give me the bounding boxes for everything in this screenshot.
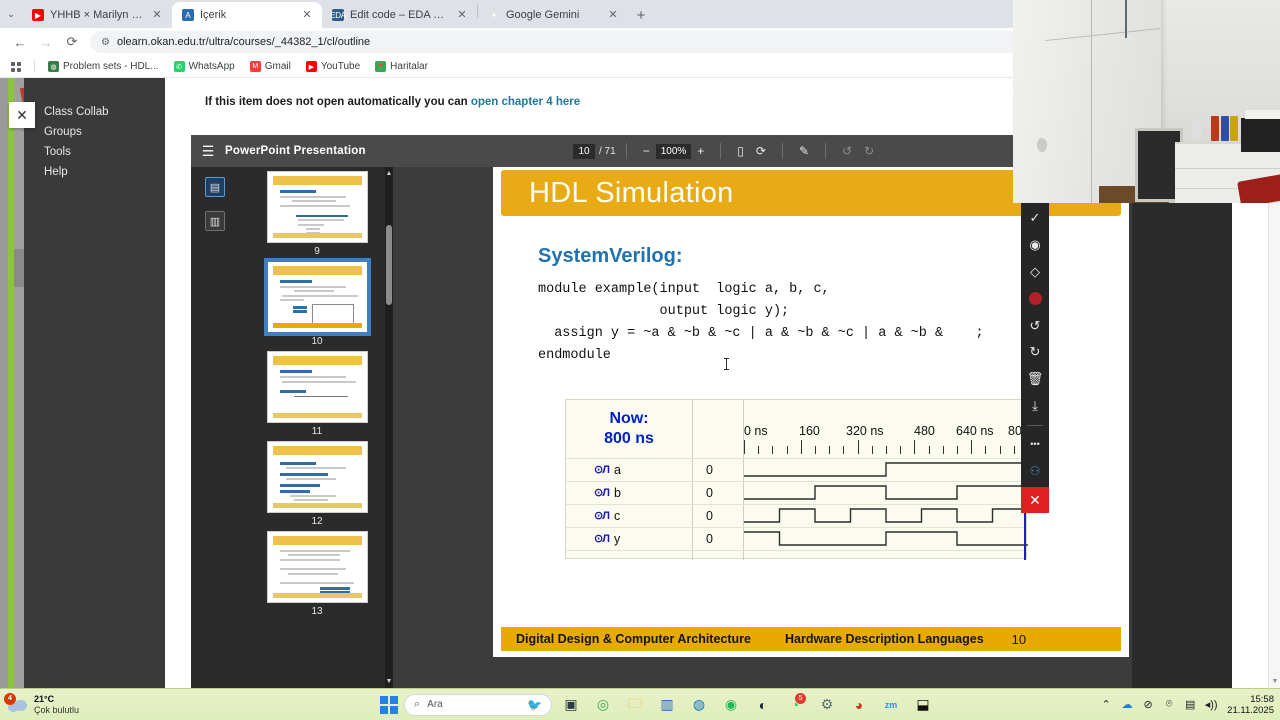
signal-name: a [614, 463, 621, 477]
axis-tick-minor [929, 446, 930, 454]
spotify-icon[interactable]: ◉ [718, 692, 744, 718]
monitor [1241, 118, 1280, 152]
network-icon[interactable]: ▤ [1181, 695, 1199, 715]
flyout-item-eposta[interactable]: E-Posta [24, 82, 165, 102]
close-icon[interactable]: ✕ [300, 10, 314, 21]
slide-thumbnail[interactable] [267, 171, 368, 243]
windows-taskbar: 4 21°C Çok bulutlu ⌕ Ara 🐦 ▣ ◎ 🗀 ▥ ◍ ◉ ◐… [0, 688, 1280, 720]
axis-tick-minor [886, 446, 887, 454]
weather-text: 21°C Çok bulutlu [34, 694, 79, 716]
thumbnail-item[interactable]: 11 [249, 351, 385, 437]
condition: Çok bulutlu [34, 705, 79, 716]
thumb-heading [280, 490, 310, 493]
chrome-icon[interactable]: ◎ [590, 692, 616, 718]
notification-badge: 4 [4, 693, 16, 705]
gemini-icon: ✦ [488, 9, 500, 21]
flyout-item-tools[interactable]: Tools [24, 142, 165, 162]
thumb-footer-bar [273, 503, 362, 508]
tab-search-chevron-icon[interactable]: ⌄ [0, 0, 22, 28]
tab-label: YHHB × Marilyn Manson (remi [50, 9, 144, 21]
signal-icon: ⊙Л [594, 509, 609, 522]
axis-tick-minor [787, 446, 788, 454]
wardrobe-seam [1091, 0, 1092, 203]
spray-can [1221, 116, 1229, 141]
bookmark-label: Gmail [265, 61, 291, 72]
toolbar-divider [720, 143, 721, 159]
show-hidden-icon[interactable]: ⌃ [1097, 695, 1115, 715]
axis-tick-minor [943, 446, 944, 454]
bookmark-label: Problem sets - HDL... [63, 61, 159, 72]
axis-tick-minor [985, 446, 986, 454]
thumbnail-number: 10 [249, 336, 385, 347]
thumb-line [290, 495, 336, 497]
thumb-line [296, 215, 348, 217]
waveform-signal-c [744, 509, 1028, 522]
axis-tick-minor [843, 446, 844, 454]
thumbnail-scrollbar-thumb[interactable] [386, 225, 392, 305]
thumb-line [320, 587, 350, 590]
thumb-line [282, 295, 358, 297]
axis-tick-minor [1014, 446, 1015, 454]
waveform-signal-y [744, 532, 1028, 545]
tab-label: Edit code – EDA Playground [350, 9, 449, 21]
thumbnail-panel: ▤ ▥ [191, 167, 393, 688]
toolbar-divider [626, 143, 627, 159]
bookmark-label: Haritalar [390, 61, 428, 72]
thumb-heading [280, 473, 328, 476]
thumbnail-list: 9 [249, 171, 385, 621]
thumbnail-number: 12 [249, 516, 385, 527]
thumbnail-number: 13 [249, 606, 385, 617]
steam-icon[interactable]: ◐ [750, 692, 776, 718]
wardrobe-knob [1037, 138, 1047, 152]
axis-tick-minor [872, 446, 873, 454]
thumb-title-bar [273, 446, 362, 455]
search-placeholder: Ara [427, 699, 443, 710]
clock[interactable]: 15:58 21.11.2025 [1227, 694, 1274, 716]
whatsapp-icon[interactable]: ◔5 [782, 692, 808, 718]
zoom-level-label[interactable]: 100% [656, 144, 692, 159]
weather-widget[interactable]: 4 21°C Çok bulutlu [6, 694, 79, 716]
annotation-toolbar: ✓ ◉ ◇ ↺ ↻ 🗑 ⤓ ••• ⚇ ✕ [1021, 200, 1049, 513]
mic-icon[interactable]: ⌾ [1160, 695, 1178, 715]
undo-icon[interactable]: ↺ [836, 140, 858, 162]
office-icon[interactable]: ◕ [846, 692, 872, 718]
signal-icon: ⊙Л [594, 532, 609, 545]
lms-flyout-menu: E-Posta Class Collab Groups Tools Help [24, 78, 165, 688]
bottle [1192, 122, 1201, 140]
thumbnail-item[interactable]: 9 [249, 171, 385, 257]
slide-footer-center: Hardware Description Languages [785, 632, 984, 646]
back-icon[interactable]: ← [8, 30, 32, 54]
thumb-heading [280, 462, 316, 465]
browser-tab-icerik[interactable]: A İçerik ✕ [172, 2, 322, 28]
taskview-icon[interactable]: ▣ [558, 692, 584, 718]
axis-tick-minor [829, 446, 830, 454]
slide-thumbnail[interactable] [267, 531, 368, 603]
browser-tab-google-gemini[interactable]: ✦ Google Gemini ✕ [478, 2, 628, 28]
thumb-heading [280, 190, 316, 193]
outlook-icon[interactable]: ◍ [686, 692, 712, 718]
bookmark-label: WhatsApp [189, 61, 235, 72]
bookmark-gmail[interactable]: M Gmail [244, 59, 297, 74]
thumb-heading [280, 390, 306, 393]
maps-icon: 📍 [375, 61, 386, 72]
slide-thumbnail[interactable] [267, 441, 368, 513]
bookmark-youtube[interactable]: ▶ YouTube [300, 59, 366, 74]
whatsapp-icon: ✆ [174, 61, 185, 72]
signal-value: 0 [706, 486, 713, 500]
thumb-line [280, 205, 350, 207]
thumb-footer-bar [273, 593, 362, 598]
now-label: Now: [609, 409, 648, 429]
signal-icon: ⊙Л [594, 463, 609, 476]
thumb-line [280, 550, 350, 552]
axis-tick-minor [815, 446, 816, 454]
thumb-line [280, 196, 346, 198]
axis-tick-minor [957, 446, 958, 454]
close-panel-button[interactable]: ✕ [9, 102, 35, 128]
taskbar-center: ⌕ Ara 🐦 ▣ ◎ 🗀 ▥ ◍ ◉ ◐ ◔5 ⚙ ◕ zm ⬓ [380, 692, 936, 718]
forward-icon[interactable]: → [34, 30, 58, 54]
thumb-heading [280, 484, 320, 487]
mute-icon[interactable]: ⊘ [1139, 695, 1157, 715]
signal-value: 0 [706, 509, 713, 523]
column-divider [692, 400, 693, 560]
temperature: 21°C [34, 694, 79, 705]
clock-time: 15:58 [1227, 694, 1274, 705]
panel-mode-buttons: ▤ ▥ [205, 177, 227, 245]
eraser-icon[interactable]: ◇ [1021, 259, 1049, 286]
annotate-icon[interactable]: ✎ [793, 140, 815, 162]
apps-grid-icon[interactable] [11, 62, 21, 72]
spray-can [1211, 116, 1219, 141]
thumb-line [286, 467, 346, 469]
dresser-drawer-line [1175, 168, 1280, 169]
slide-footer-page: 10 [1012, 632, 1026, 647]
check-icon[interactable]: ✓ [1021, 205, 1049, 232]
page-number-input[interactable]: 10 [573, 144, 595, 159]
hamburger-icon[interactable]: ☰ [191, 143, 225, 160]
flyout-item-groups[interactable]: Groups [24, 122, 165, 142]
thumb-title-bar [273, 176, 362, 185]
slide-footer-left: Digital Design & Computer Architecture [516, 632, 751, 646]
thumb-line [294, 499, 328, 501]
axis-tick-major [971, 440, 972, 454]
notice-text: If this item does not open automatically… [205, 96, 471, 108]
flyout-item-class-collab[interactable]: Class Collab [24, 102, 165, 122]
signal-value: 0 [706, 463, 713, 477]
eda-icon: EDA [332, 9, 344, 21]
wardrobe-handle [1125, 0, 1127, 38]
axis-tick-minor [900, 446, 901, 454]
signal-value: 0 [706, 532, 713, 546]
scroll-down-icon[interactable]: ▼ [1269, 676, 1280, 688]
thumbnail-panel-icon[interactable]: ▤ [205, 177, 225, 197]
thumb-line [298, 224, 324, 226]
thumb-heading [280, 370, 312, 373]
fit-page-icon[interactable]: ▯ [731, 140, 750, 162]
store-icon[interactable]: ▥ [654, 692, 680, 718]
thumb-wave-label [293, 306, 307, 309]
reload-icon[interactable]: ⟳ [60, 30, 84, 54]
scroll-up-icon[interactable]: ▲ [385, 169, 393, 179]
thumb-footer-bar [273, 233, 362, 238]
thumb-line [280, 286, 346, 288]
youtube-icon: ▶ [306, 61, 317, 72]
person-icon[interactable]: ⚇ [1021, 457, 1049, 484]
axis-tick-label: 640 ns [956, 424, 994, 438]
volume-icon[interactable]: ◂)) [1202, 695, 1220, 715]
thumb-line [280, 559, 340, 561]
close-icon[interactable]: ✕ [455, 10, 469, 21]
thumb-footer-bar [273, 413, 362, 418]
now-marker: Now: 800 ns [566, 400, 692, 458]
thumbnail-number: 9 [249, 246, 385, 257]
timing-diagram: Now: 800 ns 0 n [565, 399, 1027, 559]
badge-count: 5 [795, 693, 806, 704]
record-icon[interactable] [1021, 285, 1049, 312]
signal-name: b [614, 486, 621, 500]
thumb-line [280, 376, 346, 378]
thumbnail-item[interactable]: 12 [249, 441, 385, 527]
thumb-line [280, 568, 346, 570]
ankiapp-icon[interactable]: ⬓ [910, 692, 936, 718]
toolbar-divider [825, 143, 826, 159]
slide-stage: Digital Design & Computer Architecture H… [393, 167, 1200, 688]
settings-icon[interactable]: ◉ [1021, 232, 1049, 259]
spray-can [1230, 116, 1238, 141]
flyout-item-help[interactable]: Help [24, 162, 165, 182]
thumb-line [294, 290, 334, 292]
address-bar-url: olearn.okan.edu.tr/ultra/courses/_44382_… [117, 36, 370, 48]
thumb-waveform [312, 304, 354, 324]
axis-tick-label: 480 [914, 424, 935, 438]
clock-date: 21.11.2025 [1227, 705, 1274, 716]
thumbnail-number: 11 [249, 426, 385, 437]
blackboard-icon: A [182, 9, 194, 21]
page-total-label: / 71 [599, 146, 616, 157]
gmail-icon: M [250, 61, 261, 72]
thumb-heading [280, 280, 312, 283]
viewer-tool-group: 10 / 71 − 100% + ▯ ⟳ ✎ ↺ ↻ [573, 135, 880, 167]
axis-tick-major [801, 440, 802, 454]
onedrive-icon[interactable]: ☁ [1118, 695, 1136, 715]
download-icon[interactable]: ⤓ [1021, 393, 1049, 420]
axis-tick-label: 0 ns [744, 424, 768, 438]
toolbar-divider [782, 143, 783, 159]
globe-icon: ◍ [48, 61, 59, 72]
slide-footer: Digital Design & Computer Architecture H… [501, 627, 1121, 651]
waveform-signal-b [744, 486, 1028, 499]
browser-tab-eda-playground[interactable]: EDA Edit code – EDA Playground ✕ [322, 2, 477, 28]
windows-start-icon[interactable] [380, 696, 398, 714]
thumb-line [282, 381, 356, 383]
thumb-title-bar [273, 266, 362, 275]
viewer-title: PowerPoint Presentation [225, 145, 366, 157]
slide-section-heading: SystemVerilog: [538, 245, 683, 268]
axis-tick-major [914, 440, 915, 454]
close-icon[interactable]: ✕ [606, 10, 620, 21]
thumb-line [306, 228, 320, 230]
rotate-icon[interactable]: ⟳ [750, 140, 772, 162]
slide-thumbnail[interactable] [267, 351, 368, 423]
thumb-line [288, 554, 340, 556]
axis-tick-minor [1000, 446, 1001, 454]
search-icon: ⌕ [414, 698, 420, 711]
redo-icon[interactable]: ↻ [858, 140, 880, 162]
signal-name: c [614, 509, 620, 523]
webcam-overlay[interactable] [1013, 0, 1280, 203]
waveform-traces [744, 458, 1028, 558]
youtube-icon: ▶ [32, 9, 44, 21]
browser-tab-youtube[interactable]: ▶ YHHB × Marilyn Manson (remi ✕ [22, 2, 172, 28]
thumb-line [288, 573, 338, 575]
more-icon[interactable]: ••• [1021, 431, 1049, 458]
open-chapter-link[interactable]: open chapter 4 here [471, 96, 580, 108]
axis-tick-label: 160 [799, 424, 820, 438]
copilot-icon[interactable]: 🐦 [527, 698, 542, 712]
trash-icon[interactable]: 🗑 [1021, 366, 1049, 393]
tab-label: İçerik [200, 9, 294, 21]
explorer-icon[interactable]: 🗀 [622, 692, 648, 718]
bookmark-whatsapp[interactable]: ✆ WhatsApp [168, 59, 241, 74]
thumb-footer-bar [273, 323, 362, 328]
undo-icon[interactable]: ↺ [1021, 312, 1049, 339]
zoom-in-button[interactable]: + [691, 140, 710, 162]
text-cursor [726, 358, 727, 370]
thumb-wave-label [293, 310, 307, 313]
time-axis: 0 ns 160 320 ns 480 640 ns 800 [744, 400, 1028, 458]
monitor-shelf [1245, 110, 1280, 119]
thumb-line [280, 299, 304, 301]
tune-icon[interactable]: ⚙ [101, 37, 110, 48]
redo-icon[interactable]: ↻ [1021, 339, 1049, 366]
system-tray: ⌃ ☁ ⊘ ⌾ ▤ ◂)) 15:58 21.11.2025 [1097, 694, 1274, 716]
bookmark-divider [34, 60, 35, 73]
thumbnail-item[interactable]: 13 [249, 531, 385, 617]
slide-title: HDL Simulation [529, 177, 734, 210]
axis-tick-minor [772, 446, 773, 454]
auto-open-notice: If this item does not open automatically… [205, 96, 580, 108]
zoom-icon[interactable]: zm [878, 692, 904, 718]
tab-label: Google Gemini [506, 9, 600, 21]
thumbnail-item-selected[interactable]: 10 [249, 261, 385, 347]
toolbar-divider [1027, 425, 1043, 426]
cloud-icon: 4 [6, 696, 28, 714]
bookmark-haritalar[interactable]: 📍 Haritalar [369, 59, 434, 74]
zoom-out-button[interactable]: − [637, 140, 656, 162]
signal-name: y [614, 532, 620, 546]
thumb-line [280, 582, 354, 584]
thumb-line [298, 219, 344, 221]
new-tab-button[interactable]: + [628, 2, 654, 28]
waveform-signal-a [744, 463, 1028, 476]
signal-icon: ⊙Л [594, 486, 609, 499]
bookmark-label: YouTube [321, 61, 360, 72]
axis-tick-minor [758, 446, 759, 454]
axis-tick-label: 320 ns [846, 424, 884, 438]
close-icon[interactable]: ✕ [150, 10, 164, 21]
outline-panel-icon[interactable]: ▥ [205, 211, 225, 231]
thumb-line [286, 478, 336, 480]
slide-thumbnail[interactable] [267, 261, 368, 333]
scroll-down-icon[interactable]: ▼ [385, 677, 393, 687]
now-value: 800 ns [604, 429, 654, 449]
settings-icon[interactable]: ⚙ [814, 692, 840, 718]
axis-tick-major [744, 440, 745, 454]
close-icon[interactable]: ✕ [1021, 487, 1049, 513]
chrome-browser-window: ⌄ ▶ YHHB × Marilyn Manson (remi ✕ A İçer… [0, 0, 1280, 688]
bookmark-problem-sets[interactable]: ◍ Problem sets - HDL... [42, 59, 165, 74]
thumb-title-bar [273, 536, 362, 545]
thumb-title-bar [273, 356, 362, 365]
thumb-circuit [294, 396, 348, 414]
search-input[interactable]: ⌕ Ara 🐦 [404, 694, 552, 716]
thumb-line [292, 200, 336, 202]
axis-tick-major [858, 440, 859, 454]
